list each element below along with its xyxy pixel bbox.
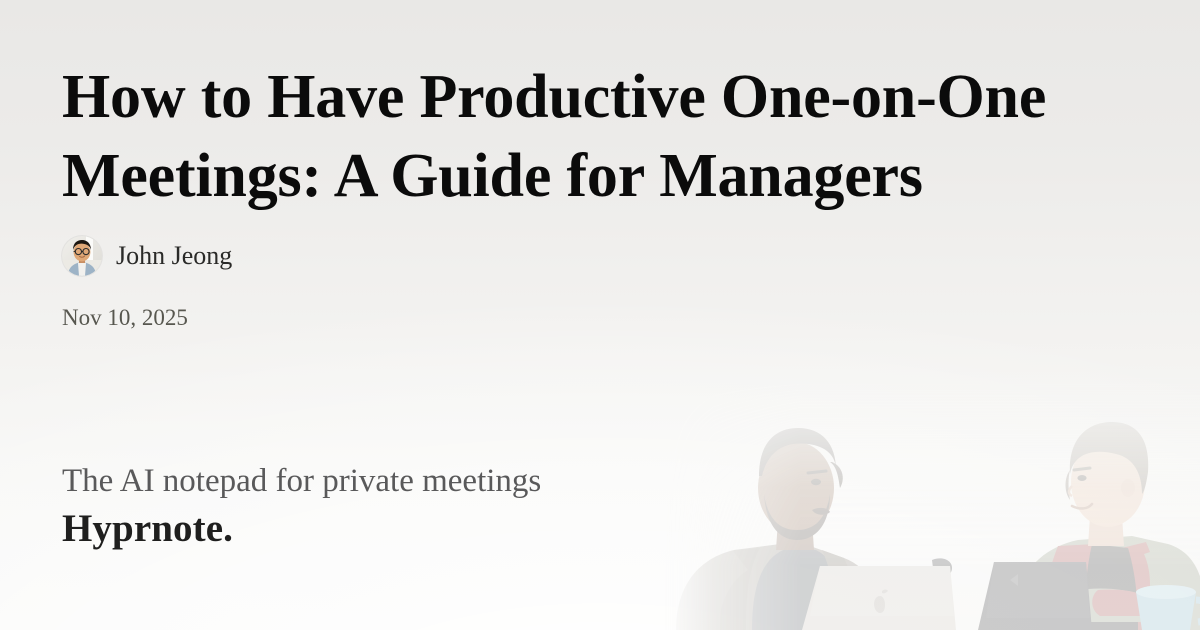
meeting-photo-illustration [660,370,1200,630]
avatar [62,236,102,276]
silver-laptop-with-apple-logo [802,566,956,630]
open-graph-preview-card: How to Have Productive One-on-One Meetin… [0,0,1200,630]
apple-logo-icon [874,590,888,614]
byline: John Jeong [62,236,232,276]
brand-lockup: The AI notepad for private meetings Hypr… [62,462,541,552]
page-title: How to Have Productive One-on-One Meetin… [62,58,1152,217]
person-left-gesturing [676,428,952,630]
author-avatar-photo [62,236,102,276]
author-name: John Jeong [116,243,232,269]
person-right-in-red-olive-jacket [1012,422,1200,630]
brand-name: Hyprnote. [62,507,541,552]
publish-date: Nov 10, 2025 [62,306,188,329]
two-people-meeting-with-laptops-photo [660,370,1200,630]
black-laptop [978,562,1092,630]
brand-tagline: The AI notepad for private meetings [62,462,541,501]
blue-coffee-mug [1136,585,1200,630]
